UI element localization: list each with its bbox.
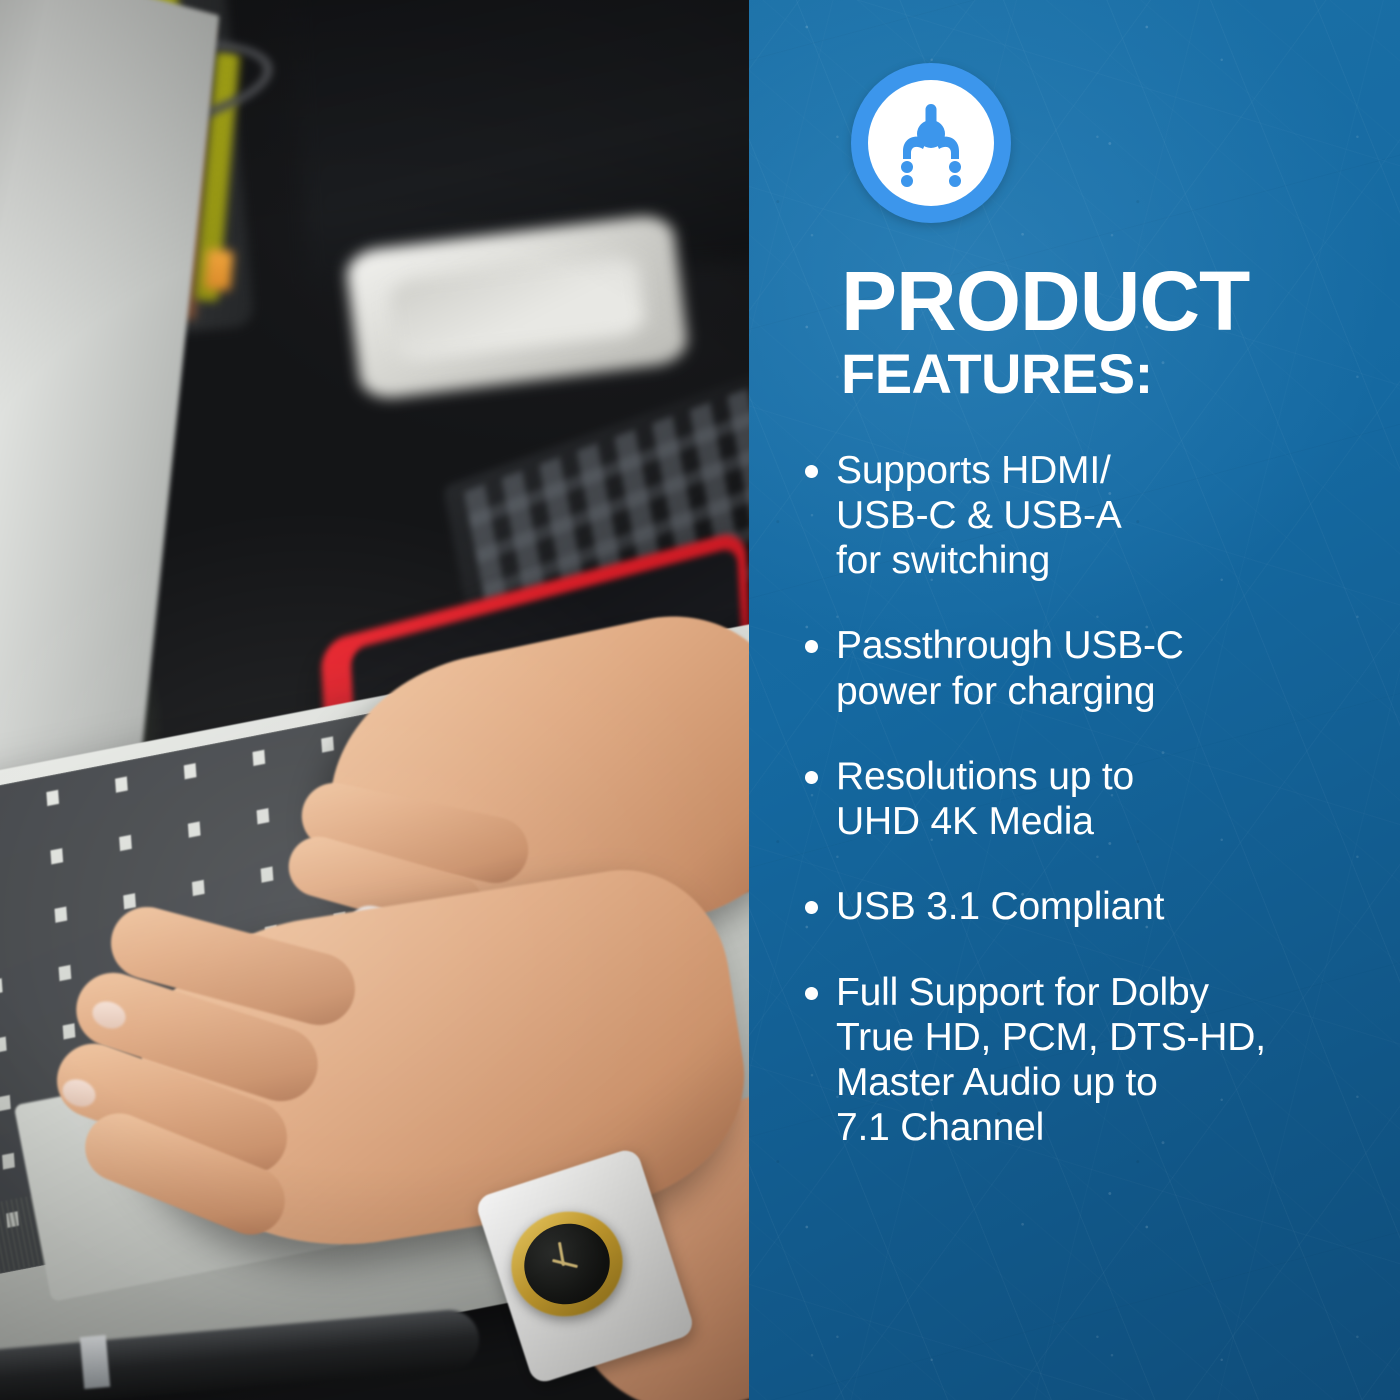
- feature-list: Supports HDMI/ USB-C & USB-A for switchi…: [749, 448, 1400, 1151]
- feature-item: Supports HDMI/ USB-C & USB-A for switchi…: [805, 448, 1364, 584]
- brand-badge: [851, 63, 1011, 223]
- bullet-dot-icon: [805, 465, 818, 478]
- heading-line-1: PRODUCT: [841, 263, 1400, 340]
- feature-text: USB 3.1 Compliant: [836, 884, 1164, 929]
- brand-badge-wrapper: [749, 63, 1400, 223]
- bullet-dot-icon: [805, 771, 818, 784]
- feature-text: Full Support for Dolby True HD, PCM, DTS…: [836, 970, 1266, 1151]
- product-features-poster: PRODUCT FEATURES: Supports HDMI/ USB-C &…: [0, 0, 1400, 1400]
- feature-item: USB 3.1 Compliant: [805, 884, 1364, 929]
- feature-text: Supports HDMI/ USB-C & USB-A for switchi…: [836, 448, 1122, 584]
- desk-pen-ring: [80, 1335, 110, 1389]
- bullet-dot-icon: [805, 901, 818, 914]
- bullet-dot-icon: [805, 987, 818, 1000]
- panel-heading: PRODUCT FEATURES:: [749, 223, 1400, 404]
- heading-line-2: FEATURES:: [841, 344, 1400, 403]
- lifestyle-photo: [0, 0, 749, 1400]
- feature-text: Resolutions up to UHD 4K Media: [836, 754, 1134, 844]
- feature-item: Resolutions up to UHD 4K Media: [805, 754, 1364, 844]
- bullet-dot-icon: [805, 640, 818, 653]
- feature-item: Passthrough USB-C power for charging: [805, 623, 1364, 713]
- feature-item: Full Support for Dolby True HD, PCM, DTS…: [805, 970, 1364, 1151]
- brand-badge-disc: [868, 80, 994, 206]
- hdmi-usb-splitter-hub-icon: [883, 95, 979, 191]
- features-panel: PRODUCT FEATURES: Supports HDMI/ USB-C &…: [749, 0, 1400, 1400]
- pencil-ferrule: [204, 249, 233, 291]
- feature-text: Passthrough USB-C power for charging: [836, 623, 1184, 713]
